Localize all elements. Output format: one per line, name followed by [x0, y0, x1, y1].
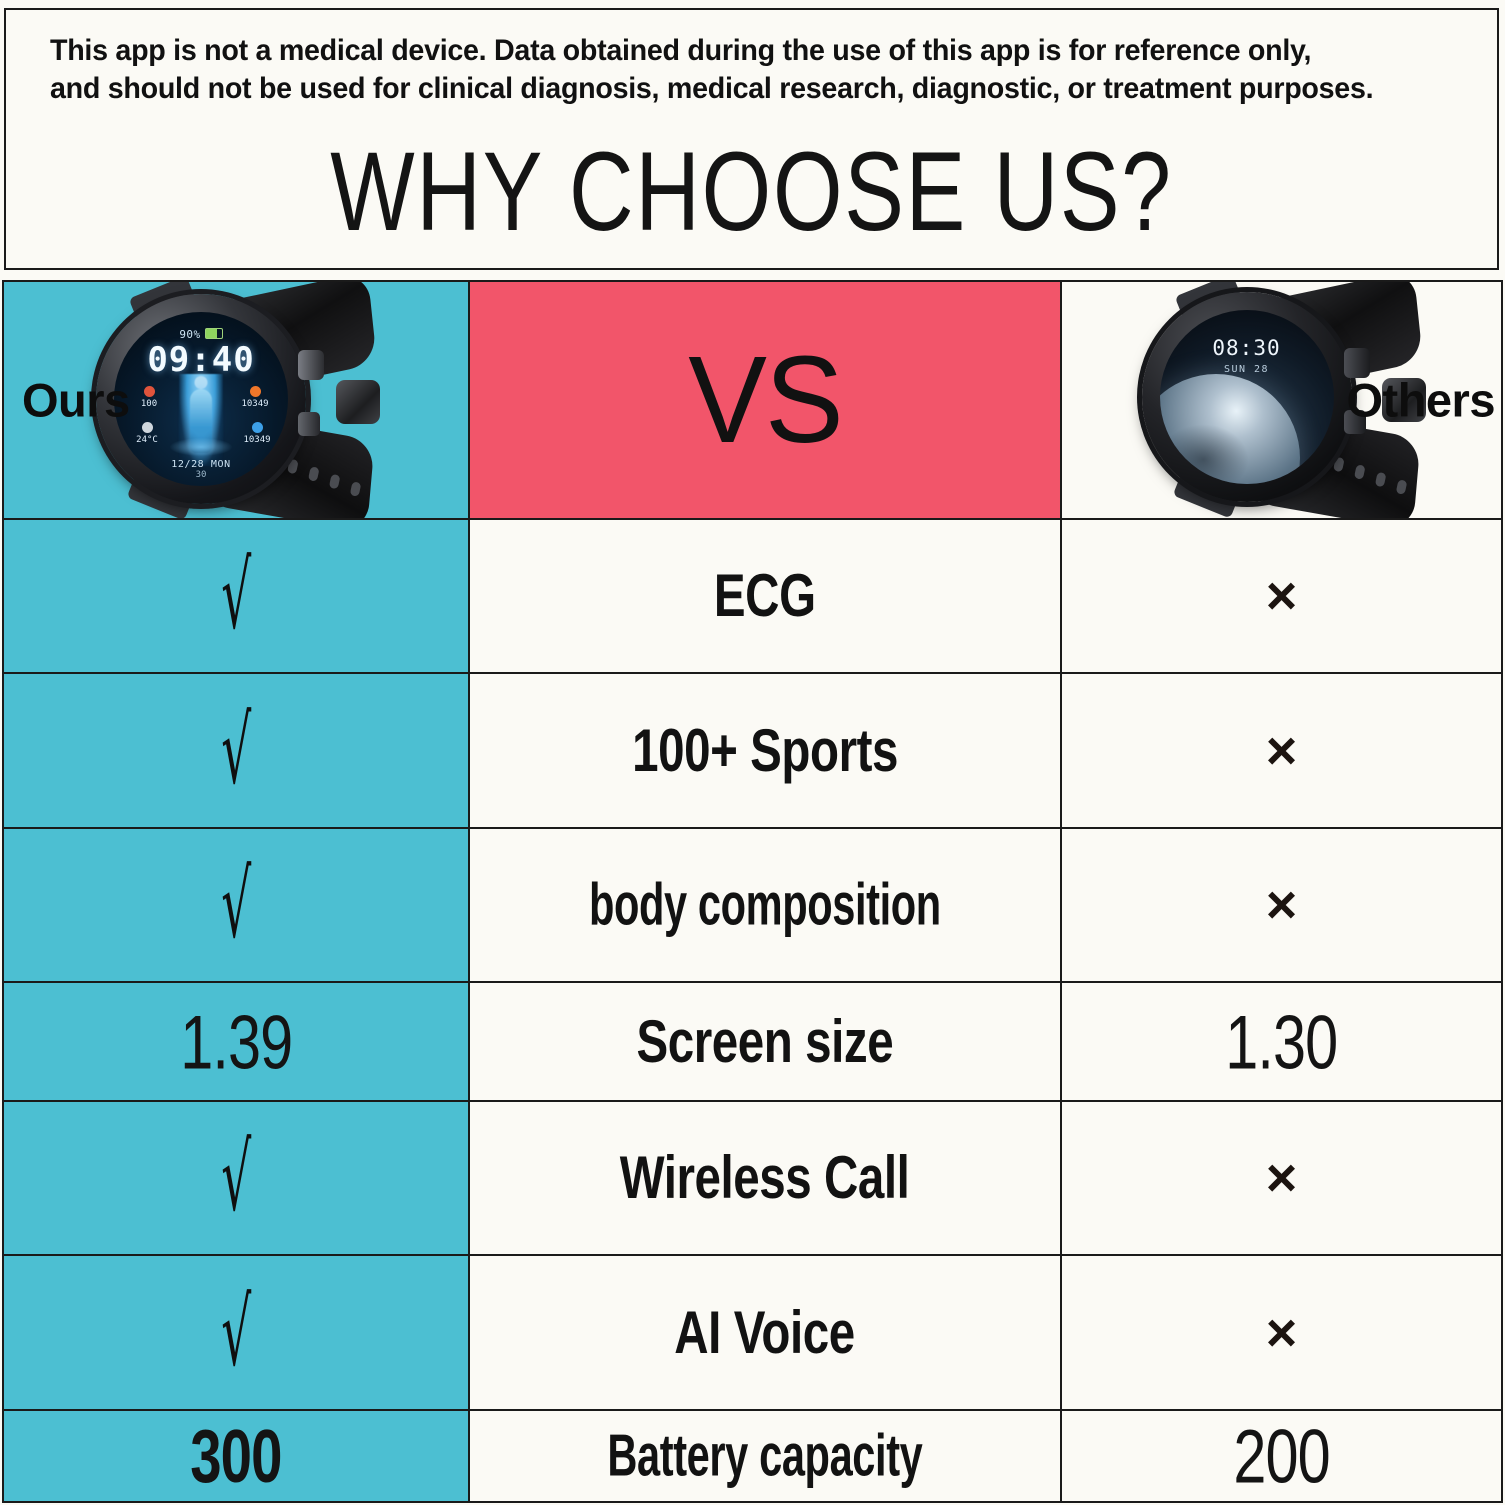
medical-disclaimer-text: This app is not a medical device. Data o…	[50, 32, 1406, 108]
watch-side-button	[298, 412, 320, 436]
comparison-infographic: This app is not a medical device. Data o…	[0, 0, 1505, 1505]
others-value: 1.30	[1225, 1004, 1337, 1080]
table-row: √ ECG ×	[4, 520, 1501, 674]
table-header-row: Ours	[4, 282, 1501, 520]
watch-metric-weather: 24°C	[124, 422, 170, 446]
ours-value-cell: 300	[4, 1411, 470, 1501]
table-row: √ Wireless Call ×	[4, 1102, 1501, 1256]
table-row: 1.39 Screen size 1.30	[4, 983, 1501, 1102]
ours-check-mark: √	[221, 859, 251, 952]
others-cross-mark: ×	[1266, 569, 1298, 623]
footprint-icon	[252, 422, 263, 433]
others-cross-mark: ×	[1266, 878, 1298, 932]
ours-value-cell: √	[4, 520, 470, 672]
others-cross-mark: ×	[1266, 1151, 1298, 1205]
comparison-table: Ours	[2, 280, 1503, 1503]
watch-metric-value: 10349	[243, 435, 270, 445]
watch-date: 12/28 MON	[114, 459, 288, 470]
ours-value: 300	[190, 1418, 281, 1494]
ours-value-cell: 1.39	[4, 983, 470, 1100]
ours-check-mark: √	[221, 1132, 251, 1225]
ours-value: 1.39	[180, 1004, 292, 1080]
watch-screen: 08:30 SUN 28	[1160, 310, 1334, 484]
ours-value-cell: √	[4, 674, 470, 826]
ours-hero-cell: Ours	[4, 282, 470, 518]
others-value-cell: 200	[1062, 1411, 1501, 1501]
ours-check-mark: √	[221, 550, 251, 643]
ours-check-mark: √	[221, 1286, 251, 1379]
others-value: 200	[1233, 1418, 1329, 1494]
watch-date: SUN 28	[1160, 364, 1334, 375]
cloud-icon	[142, 422, 153, 433]
others-hero-cell: 08:30 SUN 28 Others	[1062, 282, 1501, 518]
others-value-cell: ×	[1062, 520, 1501, 672]
others-value-cell: ×	[1062, 1102, 1501, 1254]
watch-crown	[298, 350, 324, 380]
feature-label: Screen size	[637, 1011, 894, 1071]
watch-metric-value: 10349	[241, 399, 268, 409]
watch-glow	[170, 438, 232, 456]
page-title: WHY CHOOSE US?	[110, 136, 1392, 248]
battery-icon	[205, 328, 223, 339]
feature-name-cell: ECG	[470, 520, 1062, 672]
watch-metric-heart: 100	[126, 386, 172, 410]
watch-time: 08:30	[1160, 336, 1334, 360]
watch-metric-calories: 10349	[232, 386, 278, 410]
watch-screen: 90% 09:40 100 10349	[114, 312, 288, 486]
planet-wallpaper-icon	[1160, 374, 1300, 484]
feature-label: Battery capacity	[607, 1426, 922, 1485]
ours-check-mark: √	[221, 704, 251, 797]
ours-smartwatch-image: 90% 09:40 100 10349	[86, 284, 386, 516]
watch-metric-value: 24°C	[136, 435, 158, 445]
others-label: Others	[1347, 377, 1496, 424]
flame-icon	[250, 386, 261, 397]
feature-label: ECG	[714, 566, 816, 626]
watch-metric-value: 100	[141, 399, 157, 409]
others-value-cell: 1.30	[1062, 983, 1501, 1100]
ours-value-cell: √	[4, 1256, 470, 1408]
feature-name-cell: Wireless Call	[470, 1102, 1062, 1254]
feature-name-cell: Screen size	[470, 983, 1062, 1100]
feature-name-cell: Battery capacity	[470, 1411, 1062, 1501]
feature-label: body composition	[589, 875, 941, 934]
watch-metric-steps: 10349	[234, 422, 280, 446]
others-value-cell: ×	[1062, 1256, 1501, 1408]
feature-label: Wireless Call	[620, 1148, 910, 1208]
others-cross-mark: ×	[1266, 1306, 1298, 1360]
ours-value-cell: √	[4, 1102, 470, 1254]
watch-buckle	[336, 380, 380, 424]
feature-label: 100+ Sports	[632, 720, 898, 780]
feature-name-cell: body composition	[470, 829, 1062, 981]
others-value-cell: ×	[1062, 829, 1501, 981]
feature-name-cell: 100+ Sports	[470, 674, 1062, 826]
others-value-cell: ×	[1062, 674, 1501, 826]
disclaimer-panel: This app is not a medical device. Data o…	[4, 8, 1499, 270]
table-row: √ 100+ Sports ×	[4, 674, 1501, 828]
heart-icon	[144, 386, 155, 397]
others-cross-mark: ×	[1266, 724, 1298, 778]
watch-subtext: 30	[114, 470, 288, 480]
vs-cell: VS	[470, 282, 1062, 518]
ours-label: Ours	[22, 377, 130, 424]
table-row: √ body composition ×	[4, 829, 1501, 983]
feature-name-cell: AI Voice	[470, 1256, 1062, 1408]
feature-label: AI Voice	[675, 1302, 855, 1362]
vs-label: VS	[688, 338, 841, 462]
table-row: √ AI Voice ×	[4, 1256, 1501, 1410]
ours-value-cell: √	[4, 829, 470, 981]
table-row: 300 Battery capacity 200	[4, 1411, 1501, 1501]
